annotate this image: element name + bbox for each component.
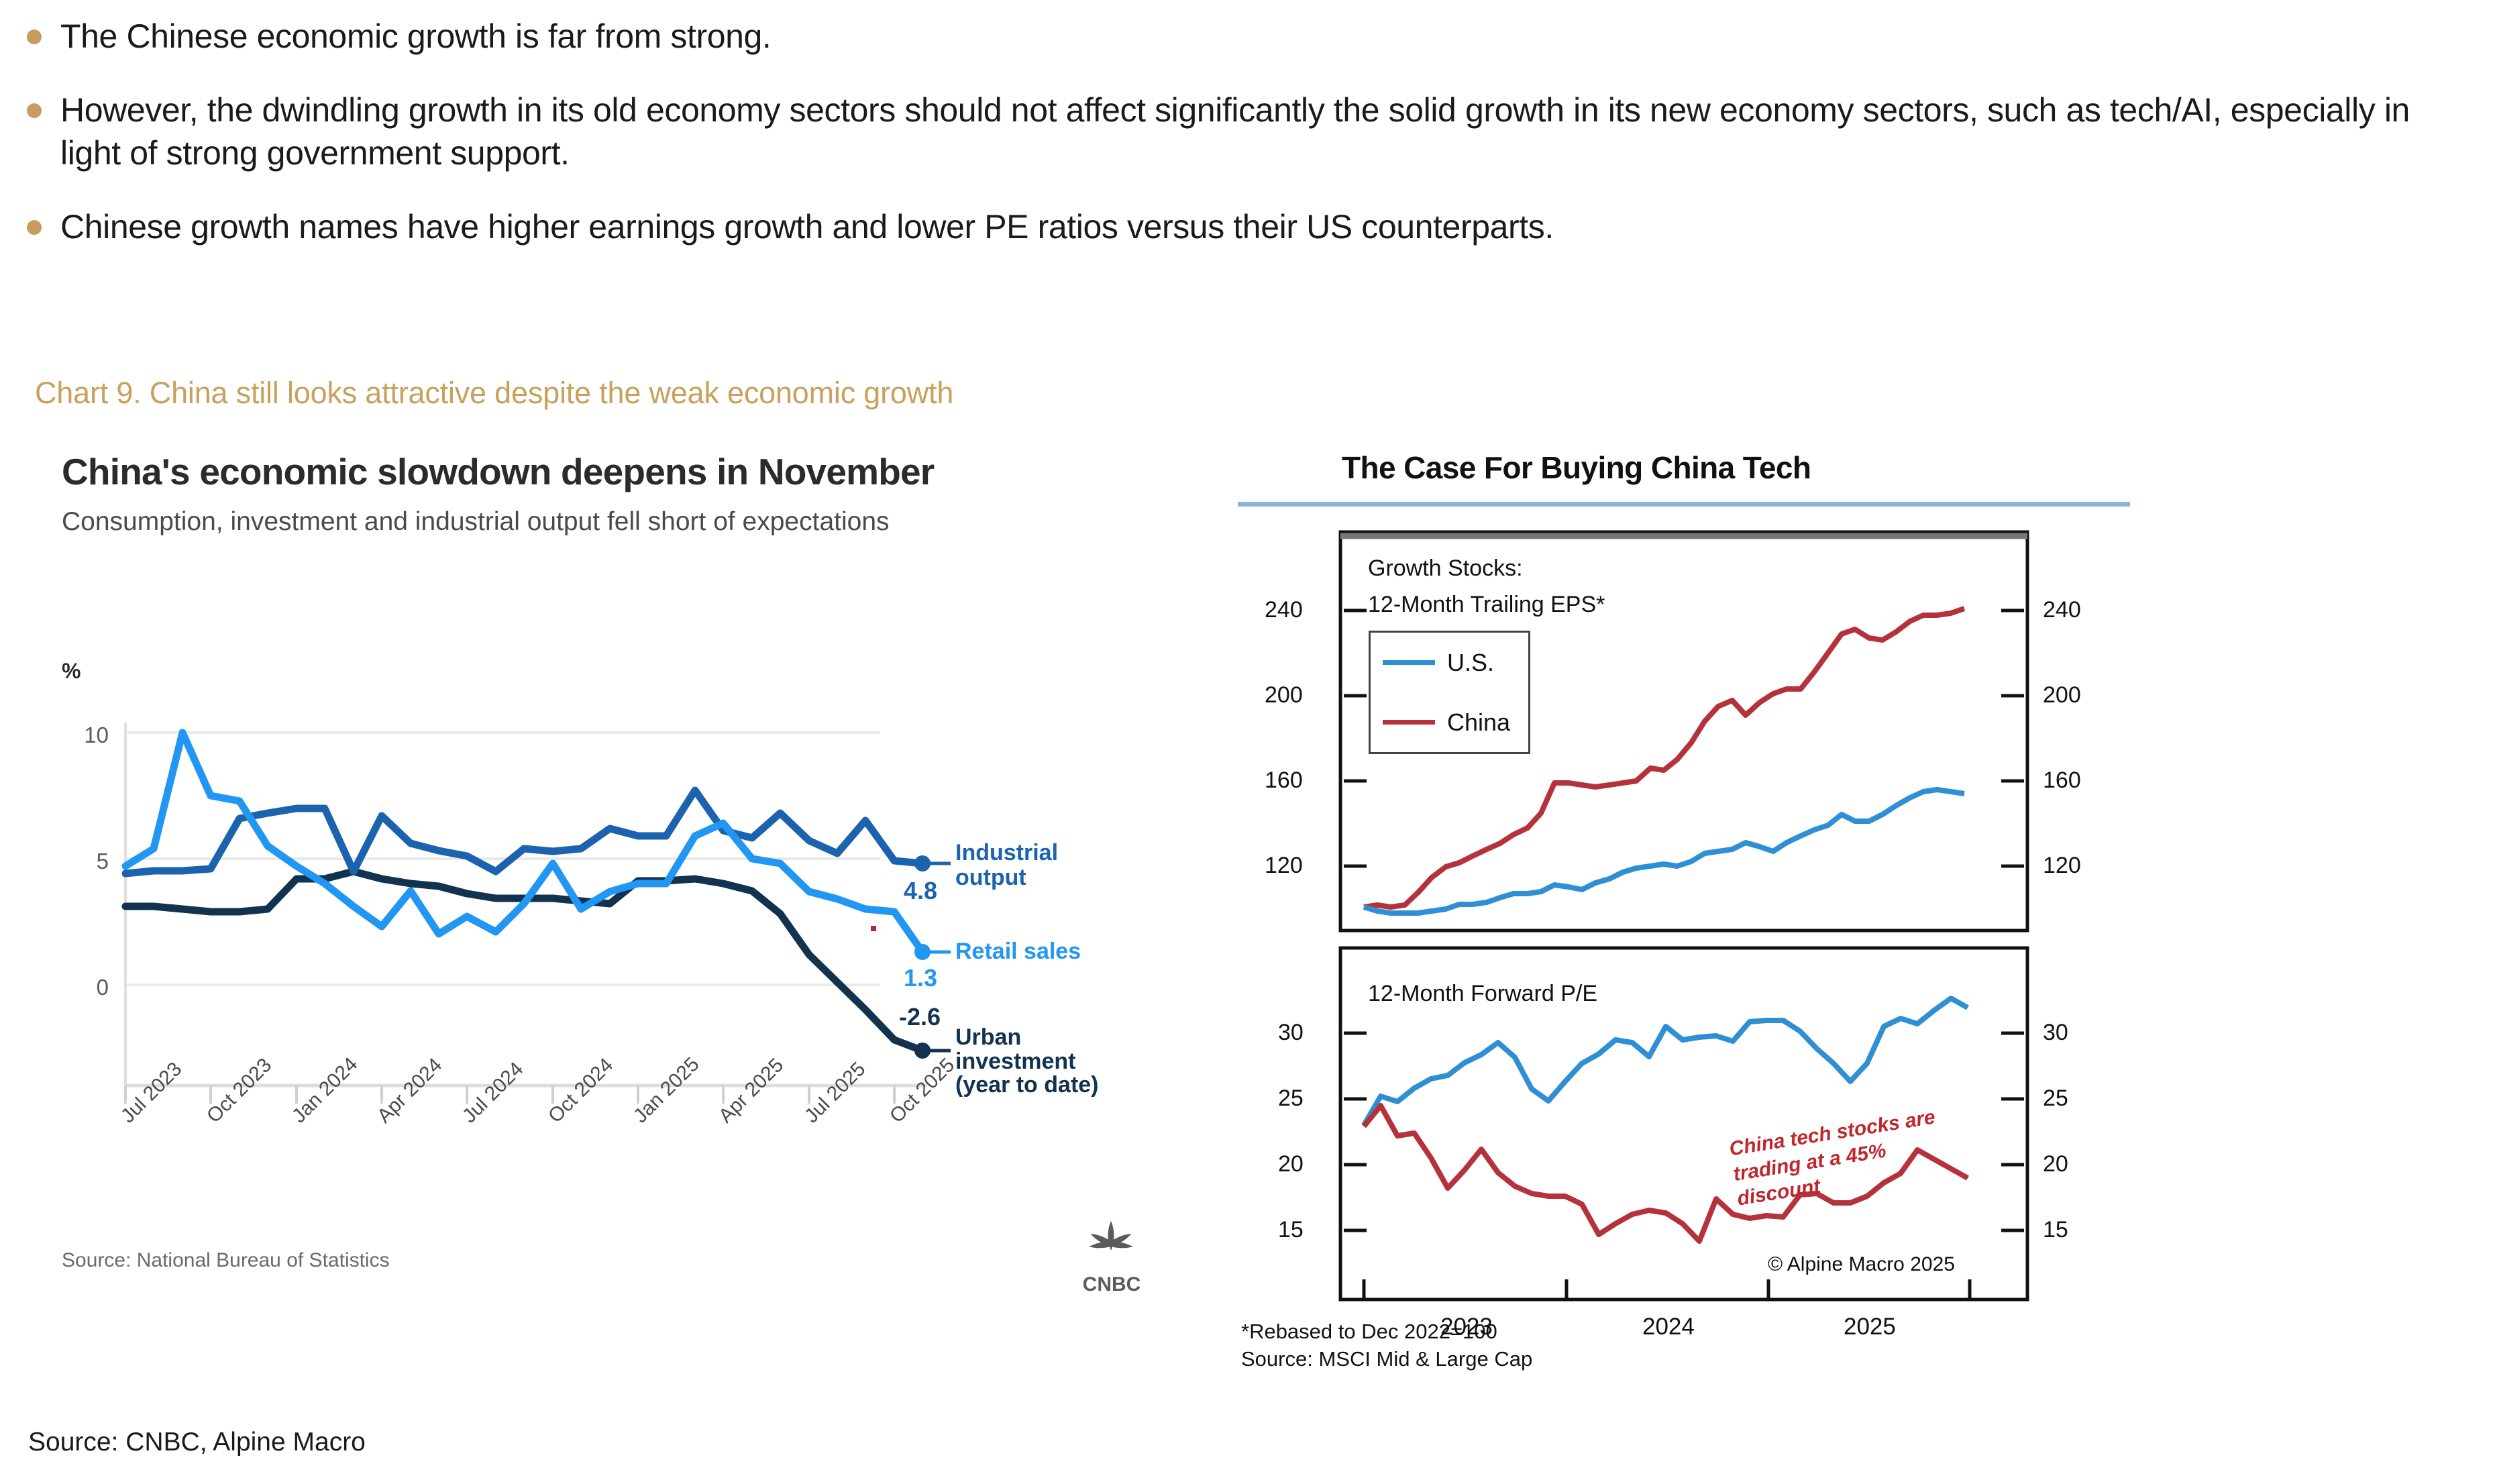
right-chart-panels: Growth Stocks: 12-Month Trailing EPS* U.… bbox=[1338, 530, 2029, 1302]
pe-panel-note: 12-Month Forward P/E bbox=[1368, 981, 1597, 1007]
pe-ytick-right-20: 20 bbox=[2043, 1151, 2068, 1177]
series-label-retail-sales: Retail sales bbox=[955, 939, 1081, 964]
svg-text:CNBC: CNBC bbox=[1083, 1273, 1141, 1295]
pe-ytick-right-25: 25 bbox=[2043, 1085, 2068, 1112]
title-divider bbox=[1238, 502, 2130, 507]
pe-xtick-2025: 2025 bbox=[1844, 1314, 1896, 1340]
bullet-text: Chinese growth names have higher earning… bbox=[60, 205, 1554, 248]
eps-ytick-left-240: 240 bbox=[1265, 597, 1303, 623]
pe-xtick-2024: 2024 bbox=[1642, 1314, 1695, 1340]
list-item: However, the dwindling growth in its old… bbox=[27, 89, 2455, 174]
pe-ytick-right-30: 30 bbox=[2043, 1020, 2068, 1046]
bullet-dot-icon bbox=[27, 220, 42, 235]
left-chart-unit-label: % bbox=[62, 659, 81, 684]
series-value-urban-investment: -2.6 bbox=[899, 1003, 941, 1031]
left-chart-source: Source: National Bureau of Statistics bbox=[62, 1249, 390, 1272]
eps-ytick-right-160: 160 bbox=[2043, 767, 2081, 794]
list-item: The Chinese economic growth is far from … bbox=[27, 15, 2455, 58]
legend-item-us: U.S. bbox=[1371, 633, 1528, 692]
page-source: Source: CNBC, Alpine Macro bbox=[28, 1428, 366, 1457]
bullet-list: The Chinese economic growth is far from … bbox=[27, 15, 2455, 279]
pe-ytick-left-25: 25 bbox=[1278, 1085, 1304, 1112]
left-chart-figure: China's economic slowdown deepens in Nov… bbox=[62, 451, 1175, 1403]
right-chart-figure: The Case For Buying China Tech Gr bbox=[1238, 443, 2184, 1449]
series-label-urban-investment: Urban investment (year to date) bbox=[955, 1026, 1113, 1098]
eps-ytick-left-120: 120 bbox=[1265, 853, 1303, 879]
bullet-text: However, the dwindling growth in its old… bbox=[60, 89, 2455, 174]
series-value-industrial-output: 4.8 bbox=[904, 877, 937, 905]
right-chart-footnote-line1: *Rebased to Dec 2022=100 bbox=[1241, 1318, 1532, 1346]
legend-item-china: China bbox=[1371, 692, 1528, 752]
right-chart-title: The Case For Buying China Tech bbox=[1342, 449, 1811, 486]
bullet-dot-icon bbox=[27, 30, 42, 44]
eps-ytick-right-240: 240 bbox=[2043, 597, 2081, 623]
right-chart-footnote-line2: Source: MSCI Mid & Large Cap bbox=[1241, 1346, 1532, 1373]
right-chart-footnote: *Rebased to Dec 2022=100 Source: MSCI Mi… bbox=[1241, 1318, 1532, 1373]
pe-ytick-left-15: 15 bbox=[1278, 1217, 1304, 1243]
eps-ytick-right-120: 120 bbox=[2043, 853, 2081, 879]
series-label-industrial-output: Industrial output bbox=[955, 841, 1103, 891]
legend-label-us: U.S. bbox=[1447, 649, 1494, 677]
cnbc-logo: CNBC bbox=[1068, 1216, 1155, 1303]
pe-ytick-left-20: 20 bbox=[1278, 1151, 1304, 1177]
eps-panel-note-line2: 12-Month Trailing EPS* bbox=[1368, 592, 1605, 618]
left-chart-subtitle: Consumption, investment and industrial o… bbox=[62, 507, 1048, 538]
eps-ytick-right-200: 200 bbox=[2043, 682, 2081, 708]
list-item: Chinese growth names have higher earning… bbox=[27, 205, 2455, 248]
pe-ytick-left-30: 30 bbox=[1278, 1020, 1304, 1046]
eps-ytick-left-160: 160 bbox=[1265, 767, 1303, 794]
eps-legend: U.S. China bbox=[1369, 631, 1530, 754]
pe-ytick-right-15: 15 bbox=[2043, 1217, 2068, 1243]
left-chart-plot: 10 5 0 bbox=[62, 682, 1175, 1239]
eps-ytick-left-200: 200 bbox=[1265, 682, 1303, 708]
series-value-retail-sales: 1.3 bbox=[904, 964, 937, 992]
alpine-copyright: © Alpine Macro 2025 bbox=[1768, 1253, 1955, 1276]
chart-caption: Chart 9. China still looks attractive de… bbox=[35, 376, 953, 411]
bullet-dot-icon bbox=[27, 103, 42, 118]
legend-label-china: China bbox=[1447, 708, 1510, 737]
left-chart-title: China's economic slowdown deepens in Nov… bbox=[62, 451, 1014, 493]
eps-panel-note-line1: Growth Stocks: bbox=[1368, 555, 1523, 582]
legend-swatch-china bbox=[1383, 720, 1435, 725]
legend-swatch-us bbox=[1383, 660, 1435, 665]
bullet-text: The Chinese economic growth is far from … bbox=[60, 15, 771, 58]
